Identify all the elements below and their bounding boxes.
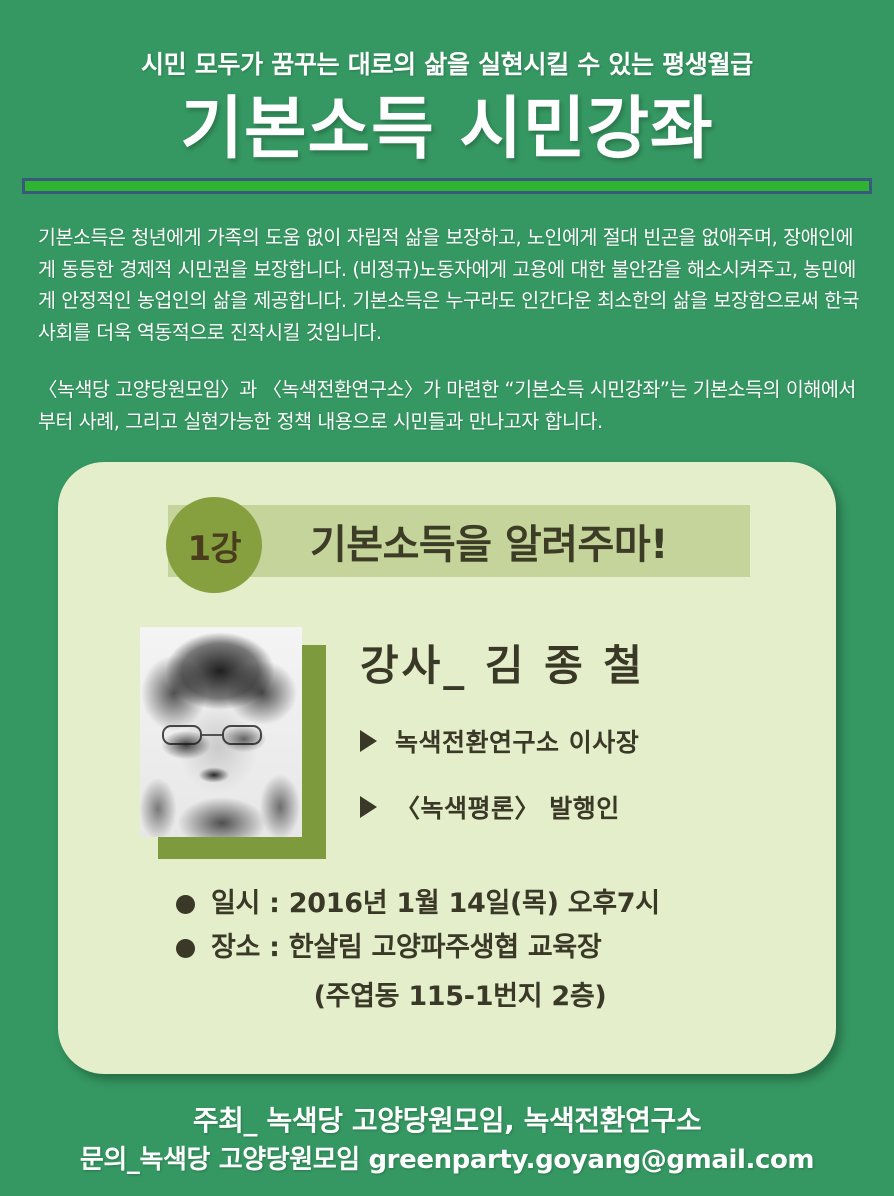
intro-section: 기본소득은 청년에게 가족의 도움 없이 자립적 삶을 보장하고, 노인에게 절… xyxy=(38,222,864,437)
poster-header: 시민 모두가 꿈꾸는 대로의 삶을 실현시킬 수 있는 평생월급 기본소득 시민… xyxy=(0,0,894,165)
bullet-dot-icon xyxy=(176,939,195,958)
lecturer-name: 강사_ 김 종 철 xyxy=(360,632,796,693)
glasses-icon xyxy=(160,725,282,747)
lecture-title: 기본소득을 알려주마! xyxy=(310,505,668,577)
lecture-header-row: 1강 기본소득을 알려주마! xyxy=(58,497,836,593)
event-details: 일시 : 2016년 1월 14일(목) 오후7시 장소 : 한살림 고양파주생… xyxy=(58,886,836,1013)
poster-footer: 주최_ 녹색당 고양당원모임, 녹색전환연구소 문의_녹색당 고양당원모임 gr… xyxy=(0,1103,894,1177)
lecture-card: 1강 기본소득을 알려주마! 강사_ 김 종 철 녹색전환연구소 이사장 〈녹색… xyxy=(58,462,836,1074)
poster-root: 시민 모두가 꿈꾸는 대로의 삶을 실현시킬 수 있는 평생월급 기본소득 시민… xyxy=(0,0,894,1196)
detail-venue-label: 장소 : 한살림 고양파주생협 교육장 xyxy=(211,930,601,966)
header-divider-bar xyxy=(22,178,872,194)
lecturer-info: 강사_ 김 종 철 녹색전환연구소 이사장 〈녹색평론〉 발행인 xyxy=(360,632,796,825)
poster-title: 기본소득 시민강좌 xyxy=(0,94,894,165)
intro-paragraph-2: 〈녹색당 고양당원모임〉과 〈녹색전환연구소〉가 마련한 “기본소득 시민강좌”… xyxy=(38,374,864,437)
lecture-number-badge: 1강 xyxy=(166,497,262,593)
detail-venue-address: (주엽동 115-1번지 2층) xyxy=(58,974,836,1013)
triangle-bullet-icon xyxy=(360,796,377,818)
lecturer-credential-2: 〈녹색평론〉 발행인 xyxy=(360,789,796,825)
detail-datetime-label: 일시 : 2016년 1월 14일(목) 오후7시 xyxy=(211,886,660,922)
lecturer-credential-1: 녹색전환연구소 이사장 xyxy=(360,723,796,759)
footer-contact-line: 문의_녹색당 고양당원모임 greenparty.goyang@gmail.co… xyxy=(0,1144,894,1177)
intro-paragraph-1: 기본소득은 청년에게 가족의 도움 없이 자립적 삶을 보장하고, 노인에게 절… xyxy=(38,222,864,348)
lecturer-photo xyxy=(140,627,326,859)
photo-frame xyxy=(140,627,302,837)
detail-row-datetime: 일시 : 2016년 1월 14일(목) 오후7시 xyxy=(58,886,836,922)
footer-host-line: 주최_ 녹색당 고양당원모임, 녹색전환연구소 xyxy=(0,1103,894,1138)
triangle-bullet-icon xyxy=(360,730,377,752)
bullet-dot-icon xyxy=(176,895,195,914)
credential-label: 녹색전환연구소 이사장 xyxy=(395,723,639,759)
poster-subtitle: 시민 모두가 꿈꾸는 대로의 삶을 실현시킬 수 있는 평생월급 xyxy=(0,50,894,80)
detail-row-venue: 장소 : 한살림 고양파주생협 교육장 xyxy=(58,930,836,966)
credential-label: 〈녹색평론〉 발행인 xyxy=(395,789,620,825)
